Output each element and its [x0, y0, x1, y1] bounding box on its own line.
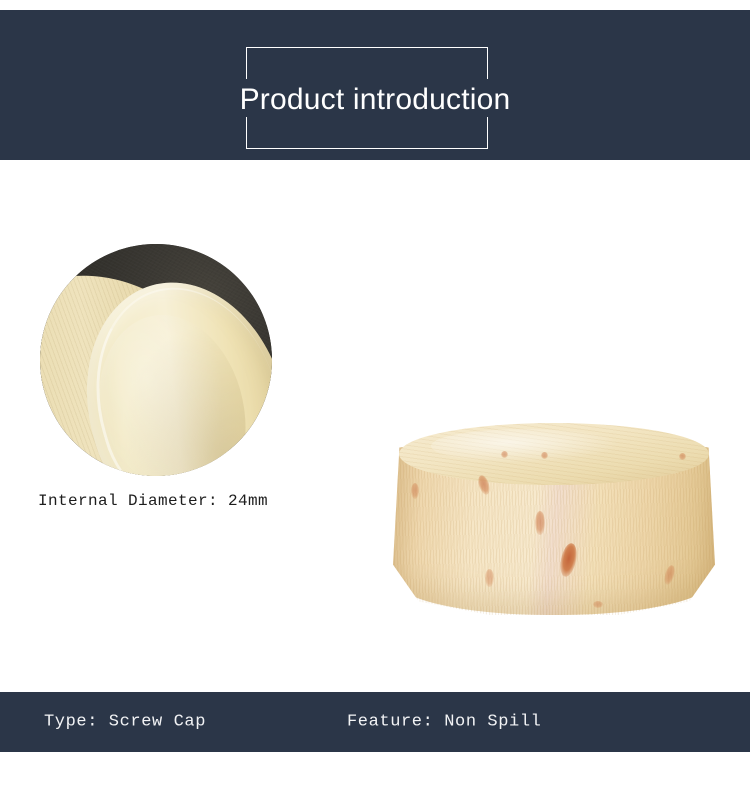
header-banner: Product introduction: [0, 10, 750, 160]
title-frame-left-lower-rule: [246, 117, 247, 149]
spec-footer-bar: Type: Screw Cap Feature: Non Spill: [0, 692, 750, 752]
title-frame-bottom-rule: [246, 148, 488, 149]
cap-interior-closeup-image: [40, 244, 272, 476]
spec-feature: Feature: Non Spill: [347, 713, 541, 732]
wood-knot: [501, 451, 508, 458]
wood-knot: [535, 511, 545, 535]
title-frame-left-upper-rule: [246, 47, 247, 79]
wood-knot: [485, 569, 494, 587]
title-frame-top-rule: [246, 47, 488, 48]
spec-type: Type: Screw Cap: [44, 713, 206, 732]
wood-knot: [411, 483, 419, 499]
wood-knot: [593, 601, 603, 608]
wood-knot: [679, 453, 686, 460]
cap-top-highlight: [431, 429, 621, 463]
title-frame-right-upper-rule: [487, 47, 488, 79]
internal-diameter-caption: Internal Diameter: 24mm: [38, 492, 268, 510]
wooden-screw-cap-image: [393, 423, 715, 615]
title-frame-right-lower-rule: [487, 117, 488, 149]
product-introduction-page: Product introduction Internal Diameter: …: [0, 0, 750, 800]
page-title: Product introduction: [0, 80, 750, 120]
wood-knot: [541, 452, 548, 459]
